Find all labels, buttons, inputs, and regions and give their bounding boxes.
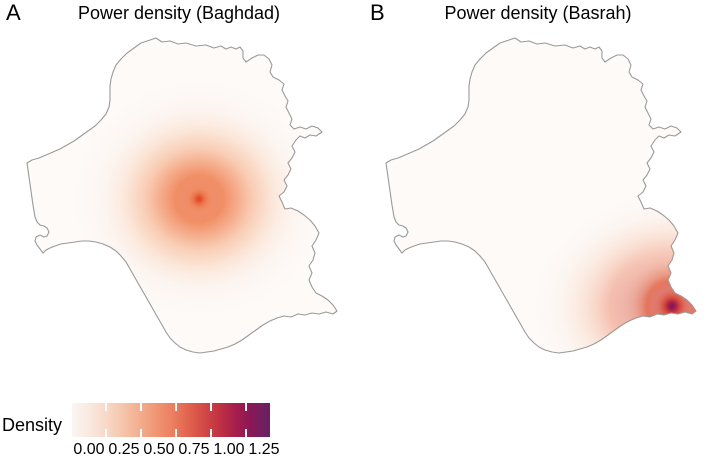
map-fill-group-a [0,22,358,394]
colorbar-tick-top-1 [105,403,107,411]
colorbar-tick-labels: 0.00 0.25 0.50 0.75 1.00 1.25 [50,442,290,462]
iraq-map-a [0,22,358,394]
colorbar-label-2: 0.50 [143,442,174,458]
panel-a-title: Power density (Baghdad) [0,4,358,24]
panel-a-map [0,22,358,394]
panel-a: A Power density (Baghdad) [0,0,358,396]
panel-b: B Power density (Basrah) [359,0,717,396]
colorbar-gradient [72,403,270,437]
colorbar-tick-top-5 [245,403,247,411]
colorbar-label-1: 0.25 [108,442,139,458]
iraq-map-b [359,22,717,394]
colorbar-tick-top-4 [210,403,212,411]
figure-root: A Power density (Baghdad) [0,0,717,463]
panel-b-map [359,22,717,394]
colorbar-label-3: 0.75 [178,442,209,458]
baghdad-hotspot-peak [175,175,223,223]
colorbar-tick-bottom-3 [175,429,177,437]
map-fill-group-b [359,22,717,394]
colorbar-tick-bottom-4 [210,429,212,437]
colorbar-tick-bottom-1 [105,429,107,437]
colorbar-tick-bottom-2 [140,429,142,437]
colorbar-tick-top-2 [140,403,142,411]
panel-b-title: Power density (Basrah) [359,4,717,24]
colorbar-label-4: 1.00 [213,442,244,458]
legend-title: Density [2,416,62,434]
colorbar-label-5: 1.25 [248,442,279,458]
colorbar-tick-top-3 [175,403,177,411]
colorbar-label-0: 0.00 [73,442,104,458]
colorbar-tick-bottom-5 [245,429,247,437]
colorbar [72,403,270,437]
